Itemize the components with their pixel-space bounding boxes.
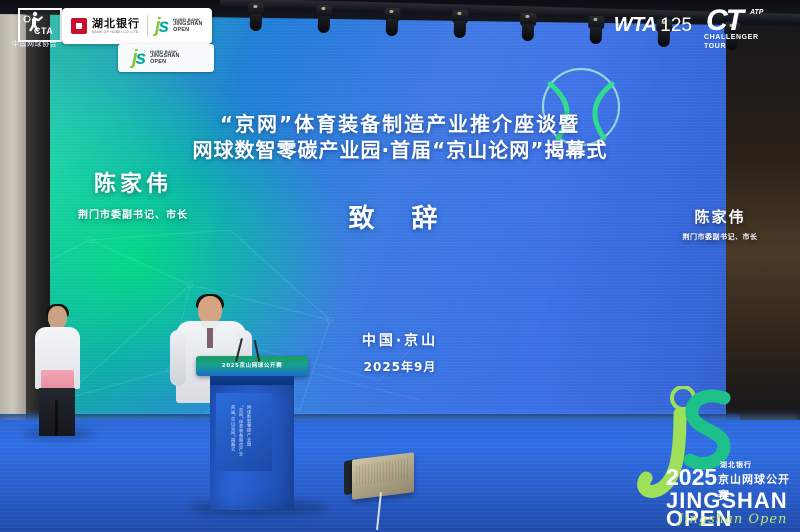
- speaker-left-arm: [170, 330, 186, 386]
- podium-body: 网球数智零碳产业园 “京网”体育装备制造产业 首届“京山论网”揭幕式: [210, 385, 294, 510]
- hubei-bank-name-cn: 湖北银行: [92, 18, 140, 29]
- event-logo-sponsor-cn: 湖北银行: [720, 460, 752, 470]
- speaking-podium: 2025京山网球公开赛 网球数智零碳产业园 “京网”体育装备制造产业 首届“京山…: [196, 356, 308, 516]
- aide-head: [48, 306, 67, 329]
- aide-leg-gap: [55, 400, 58, 436]
- moving-head-light: [451, 10, 468, 41]
- podium-panel-line-3: 首届“京山论网”揭幕式: [230, 405, 237, 451]
- speaker-head: [198, 296, 222, 324]
- challenger-line1: CHALLENGER: [704, 34, 759, 41]
- sponsor-plate-primary: 湖北银行 BANK OF HUBEI CO.,LTD. j s HUBEI BA…: [62, 8, 212, 44]
- moving-head-light: [587, 16, 604, 47]
- challenger-mark: CT: [706, 6, 742, 36]
- js-logo-line3: OPEN: [173, 28, 202, 34]
- atp-label: ATP: [750, 9, 763, 16]
- podium-banner-text: 2025京山网球公开赛: [196, 361, 308, 369]
- js-logo-line3: OPEN: [150, 60, 179, 66]
- speaker-title: 荆门市委副书记、市长: [652, 232, 788, 242]
- speaker-name: 陈家伟: [58, 166, 208, 198]
- event-stage-photo: CTA 中国网球协会 湖北银行 BANK OF HUBEI CO.,LTD. j…: [0, 0, 800, 532]
- jingshan-open-logo-small-2: j s HUBEI BANK JINGSHAN OPEN: [132, 48, 180, 68]
- screen-place: 中国·京山: [300, 330, 500, 350]
- cta-logo: CTA 中国网球协会: [12, 6, 64, 52]
- screen-headline: “京网”体育装备制造产业推介座谈暨 网球数智零碳产业园·首届“京山论网”揭幕式: [150, 112, 650, 163]
- wta-125-logo: WTA 125: [614, 14, 692, 37]
- speaker-name-caption-right: 陈家伟 荆门市委副书记、市长: [652, 206, 788, 242]
- sponsor-plate-secondary: j s HUBEI BANK JINGSHAN OPEN: [118, 44, 214, 72]
- moving-head-light: [247, 3, 264, 34]
- plate-divider: [147, 15, 148, 37]
- challenger-line2: TOUR: [704, 43, 726, 50]
- event-logo-script: Jingshan Open: [678, 512, 787, 527]
- headline-line-1: “京网”体育装备制造产业推介座谈暨: [150, 112, 650, 138]
- wta-tier: 125: [660, 15, 692, 37]
- cta-chinese-name: 中国网球协会: [12, 39, 57, 49]
- hubei-bank-name-en: BANK OF HUBEI CO.,LTD.: [92, 31, 140, 34]
- moving-head-light: [383, 8, 400, 39]
- speaker-name: 陈家伟: [652, 206, 788, 227]
- screen-section-label: 致 辞: [150, 198, 650, 235]
- event-logo-jingshan-open: 2025 湖北银行 京山网球公开赛 JINGSHAN OPEN Jingshan…: [620, 392, 800, 532]
- event-logo-year: 2025: [666, 464, 717, 491]
- screen-date: 2025年9月: [300, 358, 500, 375]
- js-monogram-s: s: [159, 17, 170, 36]
- speaker-title: 荆门市委副书记、市长: [58, 206, 208, 221]
- podium-panel-line-1: 网球数智零碳产业园: [246, 405, 253, 446]
- podium-panel-line-2: “京网”体育装备制造产业: [238, 405, 245, 456]
- speaker-name-caption-left: 陈家伟 荆门市委副书记、市长: [58, 166, 208, 221]
- jingshan-open-logo-small: j s HUBEI BANK JINGSHAN OPEN: [155, 16, 203, 36]
- cta-abbr: CTA: [34, 26, 53, 36]
- moving-head-light: [519, 13, 536, 44]
- screen-place-block: 中国·京山 2025年9月: [300, 330, 500, 375]
- atp-challenger-tour-logo: CT ATP CHALLENGER TOUR: [700, 6, 778, 50]
- podium-front-panel: 网球数智零碳产业园 “京网”体育装备制造产业 首届“京山论网”揭幕式: [216, 393, 272, 471]
- aide-pink-folder: [41, 370, 74, 390]
- moving-head-light: [315, 5, 332, 36]
- js-monogram-s: s: [136, 49, 147, 68]
- stage-aide-person: [30, 306, 86, 434]
- speaker-tie: [207, 328, 213, 348]
- hubei-bank-icon: [71, 18, 87, 34]
- headline-line-2: 网球数智零碳产业园·首届“京山论网”揭幕式: [150, 138, 650, 164]
- wta-label: WTA: [614, 14, 657, 37]
